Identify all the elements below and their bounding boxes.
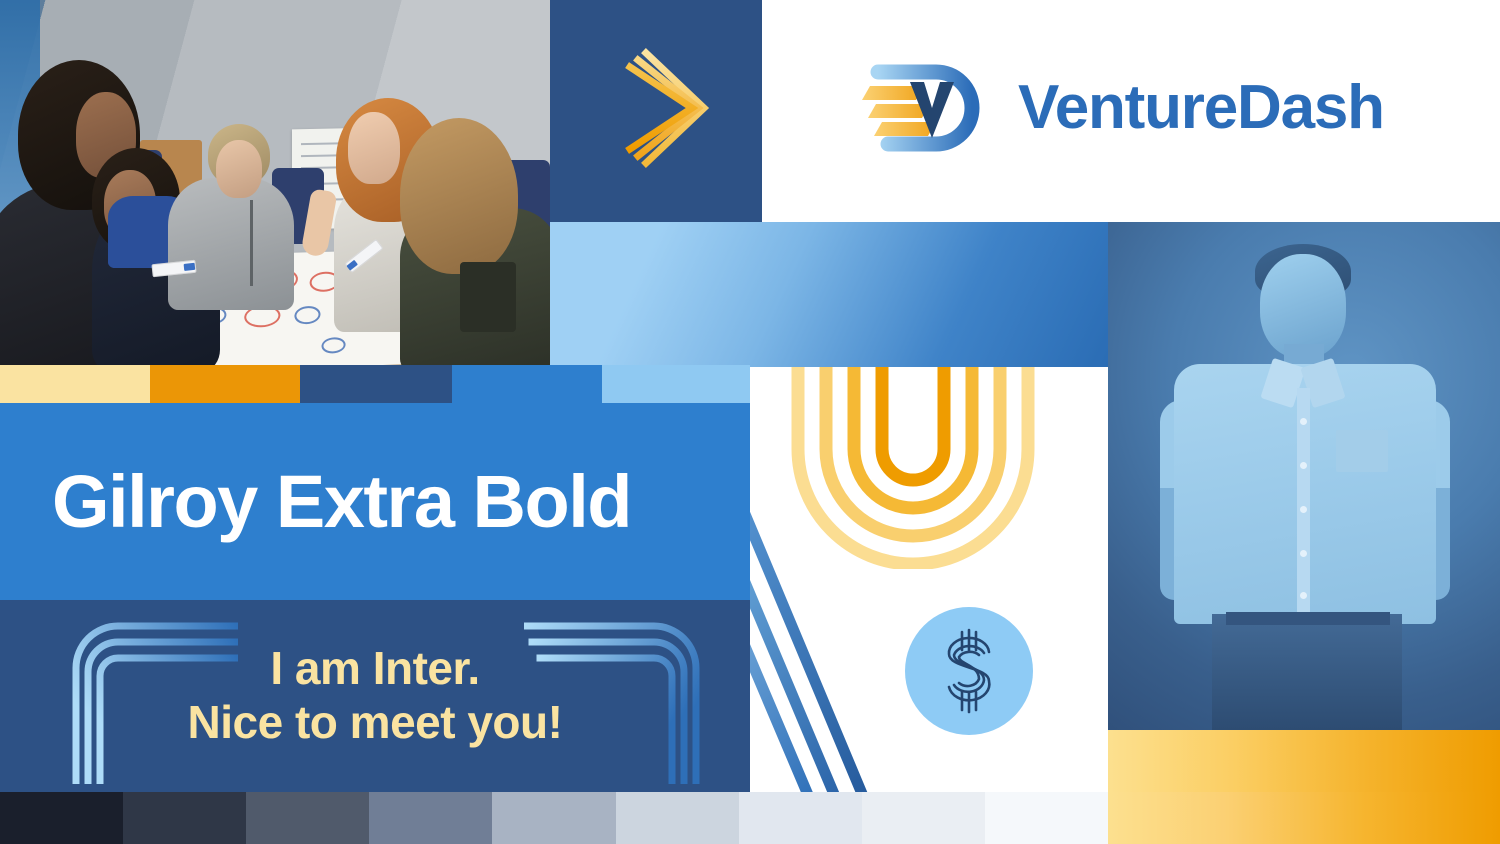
dollar-sign-icon bbox=[934, 628, 1004, 714]
photo-person-hair bbox=[400, 118, 518, 274]
strip-filler-blue bbox=[550, 367, 602, 403]
duotone-portrait-photo bbox=[1108, 222, 1500, 730]
arrow-tile bbox=[550, 0, 762, 215]
secondary-line-1: I am Inter. bbox=[270, 643, 479, 695]
typography-primary-panel: Gilroy Extra Bold bbox=[0, 403, 750, 600]
strip-filler-light-blue bbox=[602, 367, 750, 403]
portrait-face bbox=[1260, 254, 1346, 358]
photo-person-shirt bbox=[460, 262, 516, 332]
concentric-u-arcs-graphic bbox=[768, 367, 1058, 569]
gray-swatch bbox=[123, 792, 246, 844]
swatch-orange bbox=[150, 365, 300, 403]
logo-wordmark: VentureDash bbox=[1018, 72, 1384, 143]
logo-header: VentureDash bbox=[762, 0, 1500, 215]
typography-secondary-panel: I am Inter. Nice to meet you! bbox=[0, 600, 750, 792]
brand-style-guide-board: VentureDash Gilroy Extra Bold bbox=[0, 0, 1500, 844]
gold-gradient-block bbox=[1108, 730, 1500, 792]
team-workshop-photo bbox=[0, 0, 550, 365]
venturedash-d-v-logo-mark bbox=[862, 56, 988, 160]
gray-swatch bbox=[739, 792, 862, 844]
photo-person bbox=[168, 178, 294, 310]
gold-gradient-swatch bbox=[1108, 792, 1500, 844]
gray-swatch bbox=[985, 792, 1108, 844]
portrait-trousers bbox=[1212, 614, 1402, 730]
photo-person-face bbox=[216, 140, 262, 198]
triple-line-right-arrow-icon bbox=[586, 43, 726, 173]
graphic-panel bbox=[750, 367, 1108, 792]
portrait-belt bbox=[1226, 612, 1390, 625]
gray-swatch bbox=[246, 792, 369, 844]
blue-diagonal-gradient-panel bbox=[550, 222, 1110, 367]
gray-swatch bbox=[369, 792, 492, 844]
neutral-grayscale-ramp bbox=[0, 792, 1108, 844]
gray-swatch bbox=[616, 792, 739, 844]
secondary-line-2: Nice to meet you! bbox=[188, 697, 563, 749]
gray-swatch bbox=[862, 792, 985, 844]
primary-typeface-label: Gilroy Extra Bold bbox=[0, 459, 631, 544]
photo-person-face bbox=[348, 112, 400, 184]
gray-swatch bbox=[492, 792, 615, 844]
dollar-coin-icon bbox=[905, 607, 1033, 735]
portrait-shirt-pocket bbox=[1336, 430, 1388, 472]
swatch-cream bbox=[0, 365, 150, 403]
secondary-typeface-sample: I am Inter. Nice to meet you! bbox=[0, 600, 750, 792]
gray-swatch bbox=[0, 792, 123, 844]
swatch-navy bbox=[300, 365, 452, 403]
photo-hoodie-zip bbox=[250, 200, 253, 286]
